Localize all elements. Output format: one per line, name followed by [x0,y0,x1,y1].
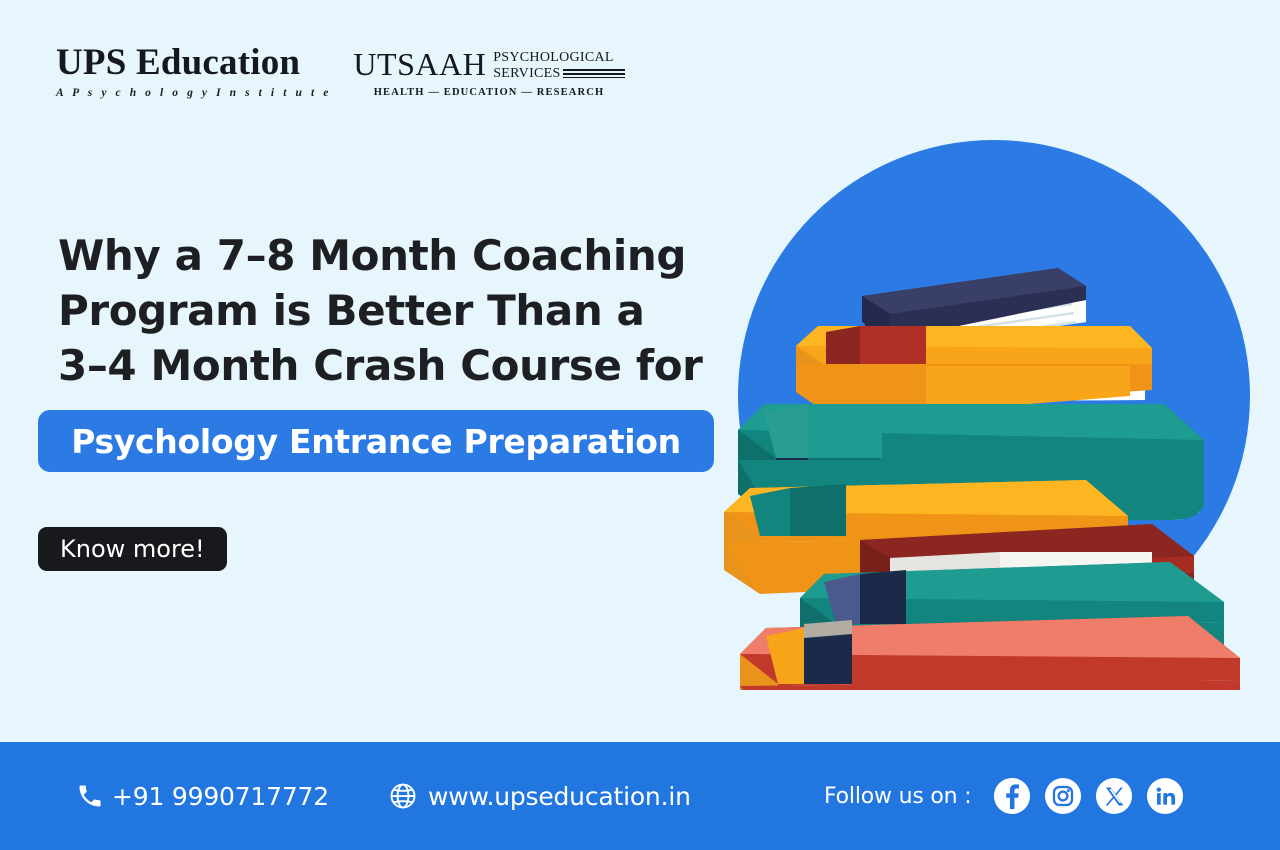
footer-website-url: www.upseducation.in [428,782,691,811]
ups-logo-name: UPS Education [56,44,331,83]
know-more-label: Know more! [60,535,205,563]
book-red-bottom [740,616,1240,690]
utsaah-rule-lines-icon [563,69,625,80]
headline-line-3: 3–4 Month Crash Course for [58,338,698,393]
highlight-banner: Psychology Entrance Preparation [38,410,714,472]
linkedin-icon[interactable] [1146,777,1184,815]
books-illustration [700,100,1280,690]
instagram-icon[interactable] [1044,777,1082,815]
utsaah-logo[interactable]: UTSAAH PSYCHOLOGICAL SERVICES HEALTH — E… [353,44,624,98]
footer-bar: +91 9990717772 www.upseducation.in Follo… [0,742,1280,850]
footer-phone-number: +91 9990717772 [112,782,329,811]
highlight-text: Psychology Entrance Preparation [71,422,681,461]
globe-icon [388,781,418,811]
utsaah-logo-subtitle: PSYCHOLOGICAL SERVICES [493,48,624,82]
x-twitter-icon[interactable] [1095,777,1133,815]
phone-icon [76,782,104,810]
footer-social: Follow us on : [824,777,1184,815]
utsaah-subtitle-line1: PSYCHOLOGICAL [493,50,624,66]
know-more-button[interactable]: Know more! [38,527,227,571]
utsaah-subtitle-line2: SERVICES [493,66,560,82]
utsaah-logo-word: UTSAAH [353,48,486,80]
ups-logo-tagline: A P s y c h o l o g y I n s t i t u t e [56,87,331,99]
footer-phone[interactable]: +91 9990717772 [76,782,329,811]
utsaah-subtitle-line2-row: SERVICES [493,66,624,82]
ups-education-logo[interactable]: UPS Education A P s y c h o l o g y I n … [56,44,331,99]
promo-banner: UPS Education A P s y c h o l o g y I n … [0,0,1280,850]
utsaah-logo-bottom: HEALTH — EDUCATION — RESEARCH [353,87,624,98]
book-yellow-upper [796,326,1152,412]
logo-row: UPS Education A P s y c h o l o g y I n … [56,44,625,99]
follow-us-label: Follow us on : [824,784,971,809]
utsaah-logo-top: UTSAAH PSYCHOLOGICAL SERVICES [353,48,624,82]
headline: Why a 7–8 Month Coaching Program is Bett… [58,228,698,393]
headline-line-1: Why a 7–8 Month Coaching [58,228,698,283]
facebook-icon[interactable] [993,777,1031,815]
footer-website[interactable]: www.upseducation.in [388,781,691,811]
headline-line-2: Program is Better Than a [58,283,698,338]
